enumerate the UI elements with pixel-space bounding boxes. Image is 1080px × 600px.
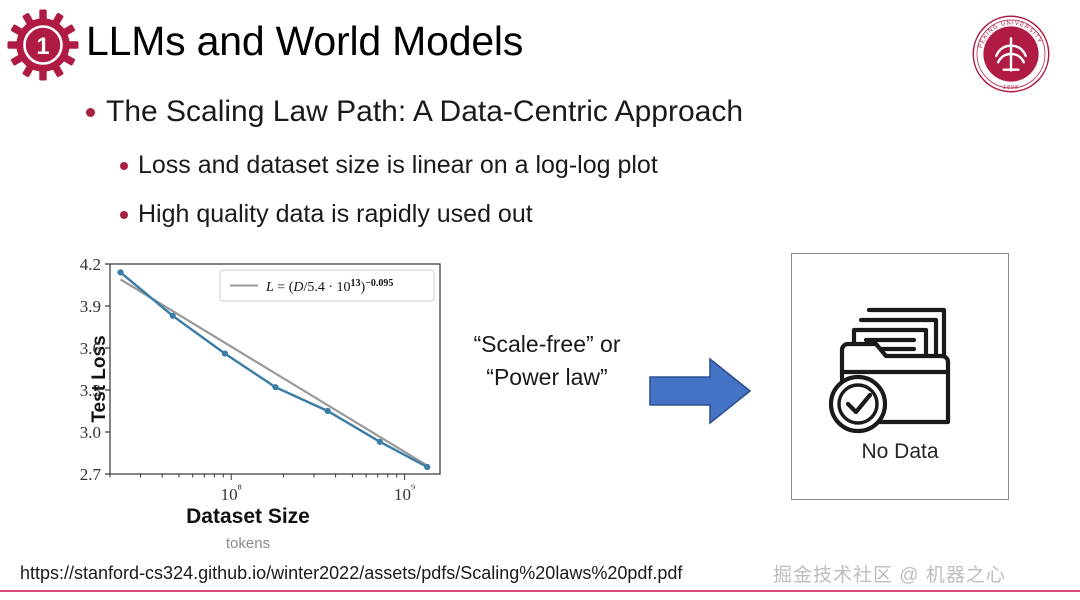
bullet-dot-icon xyxy=(120,162,128,170)
watermark-label: 掘金技术社区 @ 机器之心 xyxy=(773,560,1006,587)
bullet-level2-0: Loss and dataset size is linear on a log… xyxy=(120,148,658,182)
chart-data-point xyxy=(222,351,228,357)
chart-data-point xyxy=(117,269,123,275)
chart-y-tick: 3.9 xyxy=(80,297,101,316)
chart-y-tick: 3.6 xyxy=(80,339,101,358)
no-data-panel: No Data xyxy=(791,253,1009,500)
chart-x-tick: 10⁸ xyxy=(221,482,242,502)
chart-y-tick: 2.7 xyxy=(80,465,102,484)
chart-data-point xyxy=(325,408,331,414)
bullet-dot-icon xyxy=(120,211,128,219)
slide-canvas: 1 LLMs and World Models PEKING UNIVERSIT… xyxy=(0,0,1080,600)
chart-data-point xyxy=(377,439,383,445)
chart-y-tick: 3.3 xyxy=(80,381,101,400)
chart-y-tick: 4.2 xyxy=(80,255,101,274)
chart-y-tick: 3.0 xyxy=(80,423,101,442)
source-url[interactable]: https://stanford-cs324.github.io/winter2… xyxy=(20,563,682,584)
scaling-law-chart: Test Loss 4.23.93.63.33.02.710⁸10⁹L = (D… xyxy=(48,252,448,562)
bullet-level1-label: The Scaling Law Path: A Data-Centric App… xyxy=(106,92,743,132)
chart-x-axis-sublabel: tokens xyxy=(148,535,348,552)
logo-year: 1898 xyxy=(1003,85,1019,91)
folder-documents-check-icon xyxy=(814,276,988,456)
bullet-level1: The Scaling Law Path: A Data-Centric App… xyxy=(86,92,743,132)
bullet-level2-0-label: Loss and dataset size is linear on a log… xyxy=(138,148,658,182)
chart-x-tick: 10⁹ xyxy=(394,482,415,502)
chart-x-axis-label: Dataset Size xyxy=(148,505,348,529)
page-title: LLMs and World Models xyxy=(86,10,523,72)
caption-line-2: “Power law” xyxy=(452,361,642,394)
bullet-level2-1: High quality data is rapidly used out xyxy=(120,197,533,231)
footer-accent-bar xyxy=(0,590,1080,592)
right-arrow-icon xyxy=(648,355,752,432)
gear-badge-number: 1 xyxy=(36,34,49,60)
chart-data-point xyxy=(272,384,278,390)
chart-data-point xyxy=(424,464,430,470)
no-data-label: No Data xyxy=(792,440,1008,464)
gear-icon: 1 xyxy=(6,8,80,82)
bullet-dot-icon xyxy=(86,108,95,117)
caption-line-1: “Scale-free” or xyxy=(452,328,642,361)
chart-data-point xyxy=(170,313,176,319)
chart-plot: 4.23.93.63.33.02.710⁸10⁹L = (D/5.4 · 101… xyxy=(48,252,448,502)
bullet-level2-1-label: High quality data is rapidly used out xyxy=(138,197,533,231)
scale-free-caption: “Scale-free” or “Power law” xyxy=(452,328,642,394)
peking-university-logo: PEKING UNIVERSITY 1898 xyxy=(965,8,1057,100)
